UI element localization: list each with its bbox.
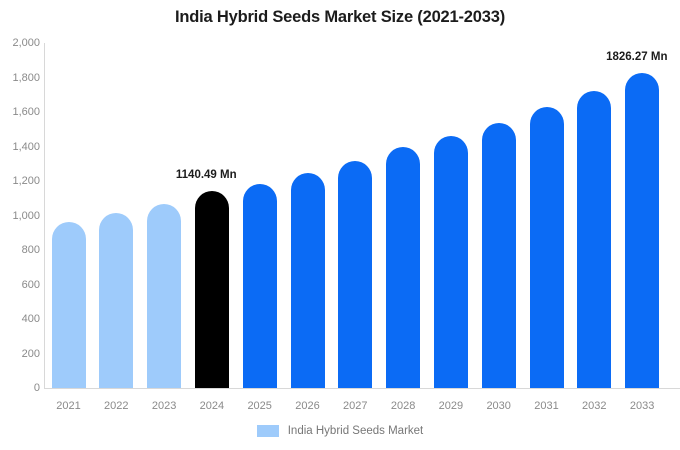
bar-2029[interactable] — [434, 136, 468, 388]
bar-2027[interactable] — [338, 161, 372, 388]
y-axis-tick-label: 600 — [2, 279, 40, 291]
legend-swatch-icon — [257, 425, 279, 437]
chart-title: India Hybrid Seeds Market Size (2021-203… — [0, 8, 680, 27]
bar-2032[interactable] — [577, 91, 611, 388]
y-axis-tick-label: 1,200 — [2, 175, 40, 187]
y-axis-tick-label: 200 — [2, 348, 40, 360]
y-axis-tick-label: 0 — [2, 382, 40, 394]
bar-2021[interactable] — [52, 222, 86, 388]
bar-2023[interactable] — [147, 204, 181, 388]
y-axis-tick-label: 800 — [2, 244, 40, 256]
bar-2028[interactable] — [386, 147, 420, 388]
plot-area — [44, 43, 680, 388]
y-axis-tick-label: 2,000 — [2, 37, 40, 49]
bar-chart: India Hybrid Seeds Market Size (2021-203… — [0, 0, 680, 450]
bar-2030[interactable] — [482, 123, 516, 388]
y-axis-tick-label: 1,000 — [2, 210, 40, 222]
bar-2026[interactable] — [291, 173, 325, 388]
y-axis-tick-label: 400 — [2, 313, 40, 325]
x-axis-line — [44, 388, 680, 389]
legend-item-label: India Hybrid Seeds Market — [288, 425, 424, 437]
chart-legend: India Hybrid Seeds Market — [0, 425, 680, 437]
y-axis-tick-label: 1,600 — [2, 106, 40, 118]
x-axis-tick-label: 2033 — [612, 400, 672, 412]
bar-2025[interactable] — [243, 184, 277, 388]
bar-value-label-2033: 1826.27 Mn — [606, 51, 667, 63]
y-axis-tick-label: 1,400 — [2, 141, 40, 153]
bar-2033[interactable] — [625, 73, 659, 388]
bar-2022[interactable] — [99, 213, 133, 388]
bar-2031[interactable] — [530, 107, 564, 388]
y-axis-tick-label: 1,800 — [2, 72, 40, 84]
bar-value-label-2024: 1140.49 Mn — [176, 169, 237, 181]
y-axis: 2,0001,8001,6001,4001,2001,0008006004002… — [0, 0, 40, 450]
bar-2024[interactable] — [195, 191, 229, 388]
